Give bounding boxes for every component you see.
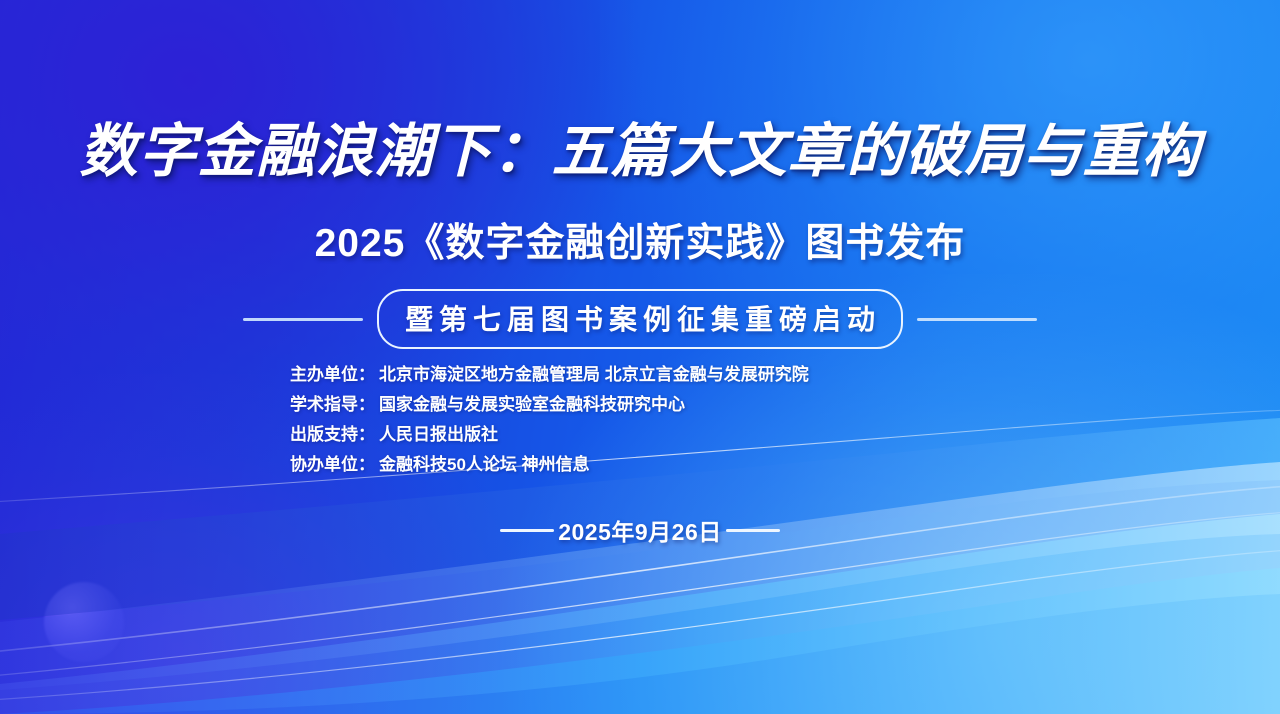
poster-content: 数字金融浪潮下：五篇大文章的破局与重构 2025《数字金融创新实践》图书发布 暨…	[0, 0, 1280, 714]
poster-canvas: 数字金融浪潮下：五篇大文章的破局与重构 2025《数字金融创新实践》图书发布 暨…	[0, 0, 1280, 714]
list-item: 主办单位：北京市海淀区地方金融管理局 北京立言金融与发展研究院	[290, 360, 990, 390]
organizer-label: 协办单位：	[290, 455, 375, 474]
organizer-label: 主办单位：	[290, 365, 375, 384]
organizer-value: 国家金融与发展实验室金融科技研究中心	[379, 395, 685, 414]
badge-rule-left	[243, 318, 363, 321]
status-badge: 暨第七届图书案例征集重磅启动	[377, 289, 903, 349]
list-item: 协办单位：金融科技50人论坛 神州信息	[290, 450, 990, 480]
organizer-label: 出版支持：	[290, 425, 375, 444]
organizer-list: 主办单位：北京市海淀区地方金融管理局 北京立言金融与发展研究院 学术指导：国家金…	[290, 360, 990, 480]
event-date: 2025年9月26日	[0, 513, 1280, 547]
date-rule-left	[500, 529, 554, 532]
organizer-value: 北京市海淀区地方金融管理局 北京立言金融与发展研究院	[379, 365, 809, 384]
organizer-value: 金融科技50人论坛 神州信息	[379, 455, 590, 474]
date-rule-right	[726, 529, 780, 532]
list-item: 学术指导：国家金融与发展实验室金融科技研究中心	[290, 390, 990, 420]
page-subtitle: 2025《数字金融创新实践》图书发布	[0, 212, 1280, 268]
badge-label: 暨第七届图书案例征集重磅启动	[405, 298, 881, 338]
list-item: 出版支持：人民日报出版社	[290, 420, 990, 450]
organizer-value: 人民日报出版社	[379, 425, 498, 444]
page-title: 数字金融浪潮下：五篇大文章的破局与重构	[0, 104, 1280, 188]
organizer-label: 学术指导：	[290, 395, 375, 414]
date-label: 2025年9月26日	[558, 513, 722, 547]
badge-row: 暨第七届图书案例征集重磅启动	[0, 289, 1280, 349]
badge-rule-right	[917, 318, 1037, 321]
